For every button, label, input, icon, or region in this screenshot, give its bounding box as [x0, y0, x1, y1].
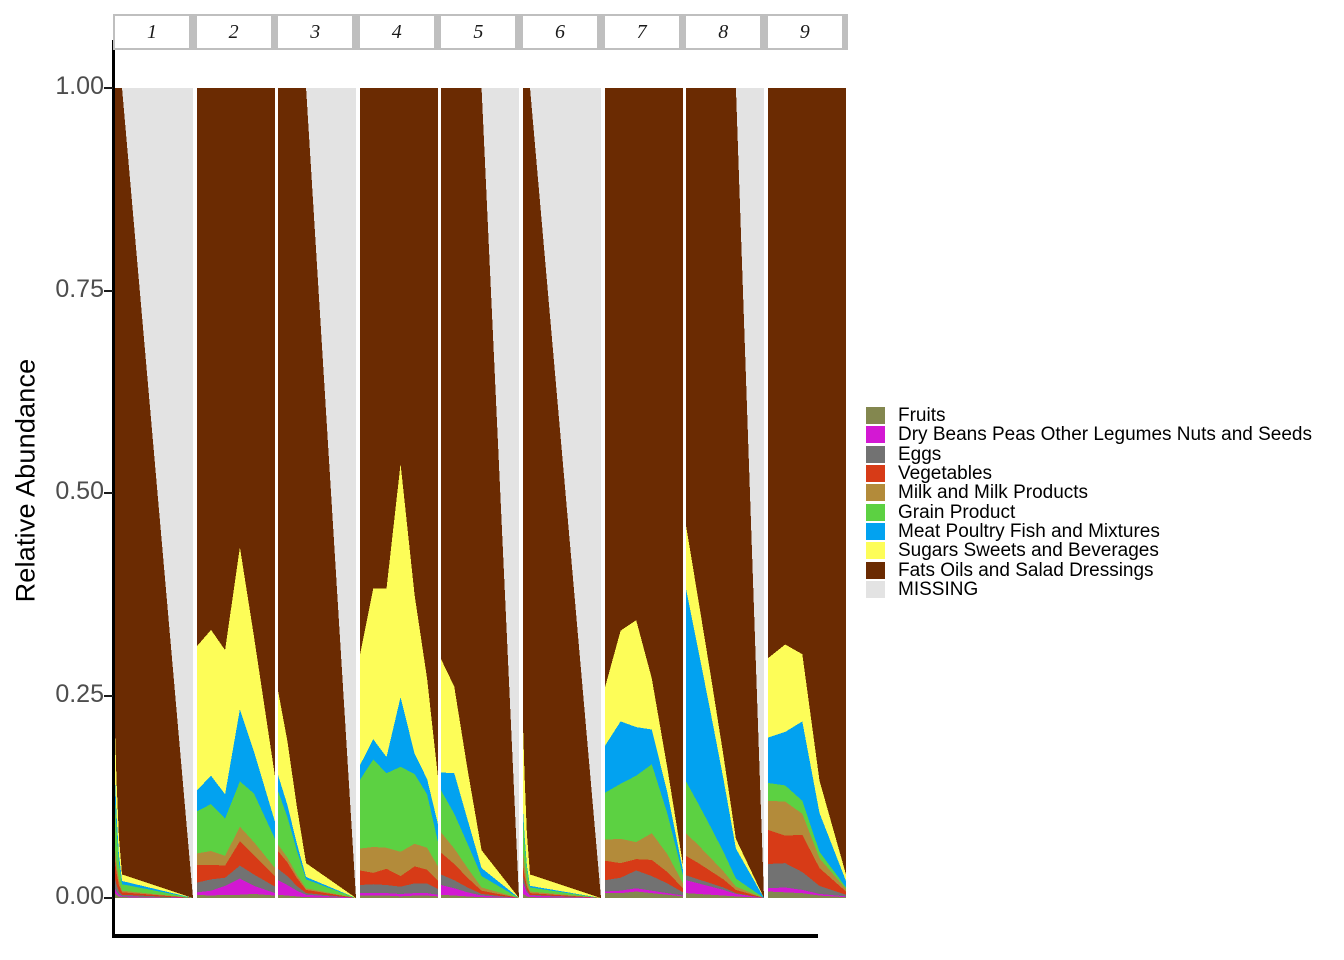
- legend-item: MISSING: [866, 580, 1312, 599]
- legend-swatch-icon: [866, 504, 885, 521]
- facet-panel-3: [278, 88, 356, 898]
- panel-plot-4: [360, 88, 438, 898]
- panel-plot-5: [441, 88, 519, 898]
- panel-plot-9: [768, 88, 846, 898]
- panel-plot-7: [605, 88, 683, 898]
- legend-swatch-icon: [866, 407, 885, 424]
- legend-item: Fruits: [866, 406, 1312, 425]
- y-tick-mark: [104, 290, 113, 292]
- legend-item: Milk and Milk Products: [866, 483, 1312, 502]
- y-tick-mark: [104, 492, 113, 494]
- y-tick-mark: [104, 87, 113, 89]
- legend-label: Dry Beans Peas Other Legumes Nuts and Se…: [898, 425, 1312, 444]
- legend-swatch-icon: [866, 484, 885, 501]
- legend-swatch-icon: [866, 523, 885, 540]
- legend-label: MISSING: [898, 580, 978, 599]
- legend-swatch-icon: [866, 446, 885, 463]
- legend-swatch-icon: [866, 465, 885, 482]
- facet-panel-2: [197, 88, 275, 898]
- panel-plot-3: [278, 88, 356, 898]
- legend-label: Fruits: [898, 406, 946, 425]
- facet-panel-6: [523, 88, 601, 898]
- facet-panel-5: [441, 88, 519, 898]
- legend-label: Grain Product: [898, 503, 1015, 522]
- legend-item: Sugars Sweets and Beverages: [866, 541, 1312, 560]
- legend-label: Sugars Sweets and Beverages: [898, 541, 1159, 560]
- panel-plot-8: [686, 88, 764, 898]
- y-tick-mark: [104, 897, 113, 899]
- legend: FruitsDry Beans Peas Other Legumes Nuts …: [866, 406, 1312, 599]
- panel-plot-2: [197, 88, 275, 898]
- legend-swatch-icon: [866, 562, 885, 579]
- legend-item: Dry Beans Peas Other Legumes Nuts and Se…: [866, 425, 1312, 444]
- legend-swatch-icon: [866, 581, 885, 598]
- facet-panel-8: [686, 88, 764, 898]
- legend-label: Meat Poultry Fish and Mixtures: [898, 522, 1160, 541]
- panel-plot-6: [523, 88, 601, 898]
- legend-item: Fats Oils and Salad Dressings: [866, 560, 1312, 579]
- legend-swatch-icon: [866, 426, 885, 443]
- legend-item: Grain Product: [866, 502, 1312, 521]
- legend-item: Meat Poultry Fish and Mixtures: [866, 522, 1312, 541]
- facet-panel-7: [605, 88, 683, 898]
- legend-item: Eggs: [866, 445, 1312, 464]
- legend-label: Milk and Milk Products: [898, 483, 1088, 502]
- panel-plot-1: [115, 88, 193, 898]
- legend-swatch-icon: [866, 542, 885, 559]
- facet-panel-9: [768, 88, 846, 898]
- legend-label: Eggs: [898, 445, 941, 464]
- y-tick-mark: [104, 695, 113, 697]
- legend-label: Vegetables: [898, 464, 992, 483]
- legend-item: Vegetables: [866, 464, 1312, 483]
- facet-panel-4: [360, 88, 438, 898]
- legend-label: Fats Oils and Salad Dressings: [898, 561, 1154, 580]
- facet-panel-1: [115, 88, 193, 898]
